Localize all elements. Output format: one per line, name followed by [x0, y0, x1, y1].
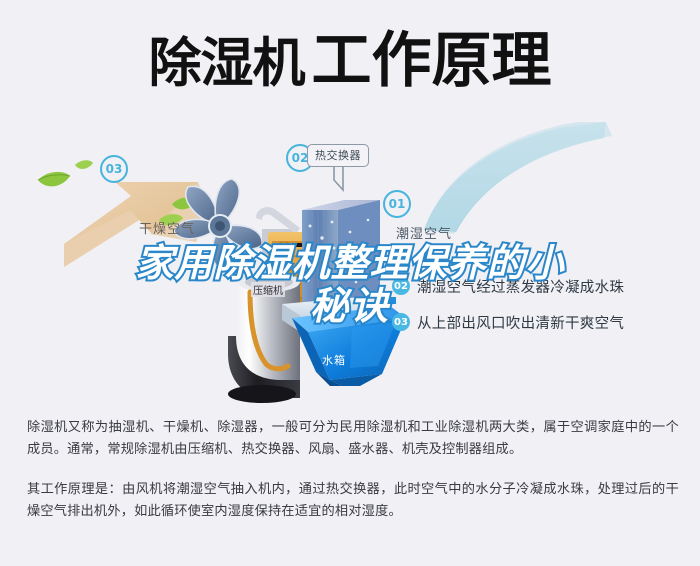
- page-header: 除湿机工作原理: [0, 0, 700, 122]
- diagram-badge-03: 03: [100, 155, 128, 183]
- water-tank: [292, 306, 406, 386]
- page-title: 除湿机工作原理: [149, 31, 552, 91]
- process-step-list: 02 潮湿空气经过蒸发器冷凝成水珠 03 从上部出风口吹出清新干爽空气: [392, 268, 624, 340]
- dry-air-label: 干燥空气: [139, 218, 195, 237]
- body-paragraph-1: 除湿机又称为抽湿机、干燥机、除湿器，一般可分为民用除湿机和工业除湿机两大类，属于…: [27, 416, 679, 460]
- step-text-03: 从上部出风口吹出清新干爽空气: [417, 312, 624, 333]
- compressor-label: 压缩机: [251, 282, 285, 297]
- page-title-part2: 工作原理: [312, 26, 552, 96]
- water-tank-label: 水箱: [322, 352, 346, 368]
- heat-exchanger-block: [302, 200, 396, 310]
- article-body: 除湿机又称为抽湿机、干燥机、除湿器，一般可分为民用除湿机和工业除湿机两大类，属于…: [27, 416, 679, 522]
- list-item: 02 潮湿空气经过蒸发器冷凝成水珠: [392, 268, 624, 304]
- dehumidifier-diagram: 03 02 01 热交换器 干燥空气 潮湿空气 压缩机 水箱: [0, 122, 700, 410]
- step-badge-03: 03: [392, 313, 410, 331]
- diagram-badge-01: 01: [383, 190, 411, 218]
- body-paragraph-2: 其工作原理是：由风机将潮湿空气抽入机内，通过热交换器，此时空气中的水分子冷凝成水…: [27, 478, 679, 522]
- step-badge-02: 02: [392, 277, 410, 295]
- heat-exchanger-callout: 热交换器: [307, 144, 369, 167]
- callout-pointer-icon: [330, 166, 356, 192]
- moist-air-label: 潮湿空气: [396, 223, 452, 242]
- step-text-02: 潮湿空气经过蒸发器冷凝成水珠: [417, 276, 624, 297]
- page-title-part1: 除湿机: [149, 33, 305, 94]
- list-item: 03 从上部出风口吹出清新干爽空气: [392, 304, 624, 340]
- moist-air-arrow-shape: [424, 122, 612, 234]
